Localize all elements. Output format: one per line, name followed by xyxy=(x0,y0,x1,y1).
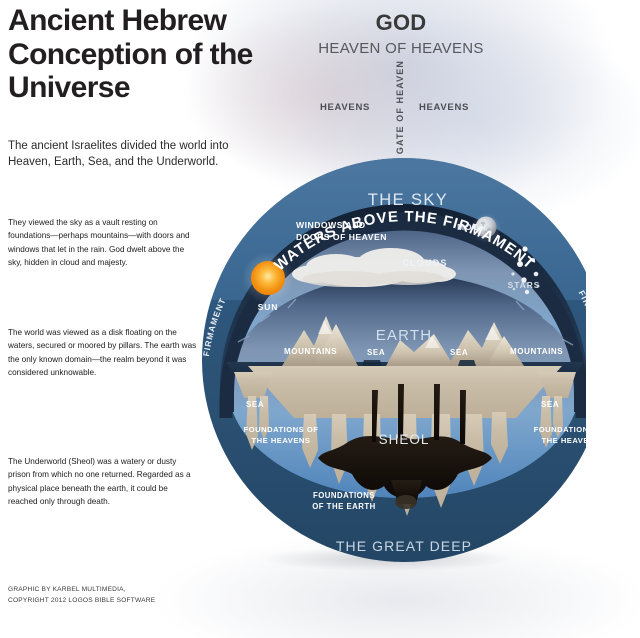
label-heavens-right: HEAVENS xyxy=(419,102,469,113)
label-foundations-of-the-earth: FOUNDATIONS OF THE EARTH xyxy=(284,490,404,513)
label-the-sky: THE SKY xyxy=(368,191,448,210)
label-gate-of-heaven: GATE OF HEAVEN xyxy=(395,60,405,154)
label-heaven-of-heavens: HEAVEN OF HEAVENS xyxy=(318,40,483,57)
label-foundations-heavens-right: FOUNDATIONS OF THE HEAVENS xyxy=(526,425,616,446)
label-sea-outer-left: SEA xyxy=(246,400,264,409)
foundations-heavens-right-line-2: THE HEAVENS xyxy=(526,436,616,447)
label-sheol: SHEOL xyxy=(379,432,430,447)
label-god: GOD xyxy=(376,10,427,36)
label-windows-doors-of-heaven: WINDOWS AND DOORS OF HEAVEN xyxy=(296,220,387,243)
label-windows-line-2: DOORS OF HEAVEN xyxy=(296,232,387,244)
foundations-earth-line-2: OF THE EARTH xyxy=(284,501,404,512)
credit-line-1: GRAPHIC BY KARBEL MULTIMEDIA, xyxy=(8,585,238,596)
credit-block: GRAPHIC BY KARBEL MULTIMEDIA, COPYRIGHT … xyxy=(8,585,238,606)
label-moon: MOON xyxy=(457,222,487,232)
label-heavens-left: HEAVENS xyxy=(320,102,370,113)
label-mountains-right: MOUNTAINS xyxy=(510,347,563,356)
label-sea-outer-right: SEA xyxy=(541,400,559,409)
page-title: Ancient Hebrew Conception of the Univers… xyxy=(8,4,308,105)
label-the-great-deep: THE GREAT DEEP xyxy=(336,538,472,554)
label-sea-inner-right: SEA xyxy=(450,348,468,357)
annotation-sky: They viewed the sky as a vault resting o… xyxy=(8,216,198,269)
infographic-canvas: Ancient Hebrew Conception of the Univers… xyxy=(0,0,640,638)
label-stars: STARS xyxy=(508,280,541,290)
label-mountains-left: MOUNTAINS xyxy=(284,347,337,356)
label-foundations-heavens-left: FOUNDATIONS OF THE HEAVENS xyxy=(236,425,326,446)
foundations-heavens-right-line-1: FOUNDATIONS OF xyxy=(526,425,616,436)
foundations-earth-line-1: FOUNDATIONS xyxy=(284,490,404,501)
credit-line-2: COPYRIGHT 2012 LOGOS BIBLE SOFTWARE xyxy=(8,596,238,607)
label-earth: EARTH xyxy=(376,327,433,344)
label-windows-line-1: WINDOWS AND xyxy=(296,220,387,232)
annotation-earth: The world was viewed as a disk floating … xyxy=(8,326,198,379)
label-clouds: CLOUDS xyxy=(402,258,447,268)
annotation-underworld: The Underworld (Sheol) was a watery or d… xyxy=(8,455,198,508)
label-sea-inner-left: SEA xyxy=(367,348,385,357)
label-sun: SUN xyxy=(258,302,278,312)
foundations-heavens-left-line-2: THE HEAVENS xyxy=(236,436,326,447)
foundations-heavens-left-line-1: FOUNDATIONS OF xyxy=(236,425,326,436)
